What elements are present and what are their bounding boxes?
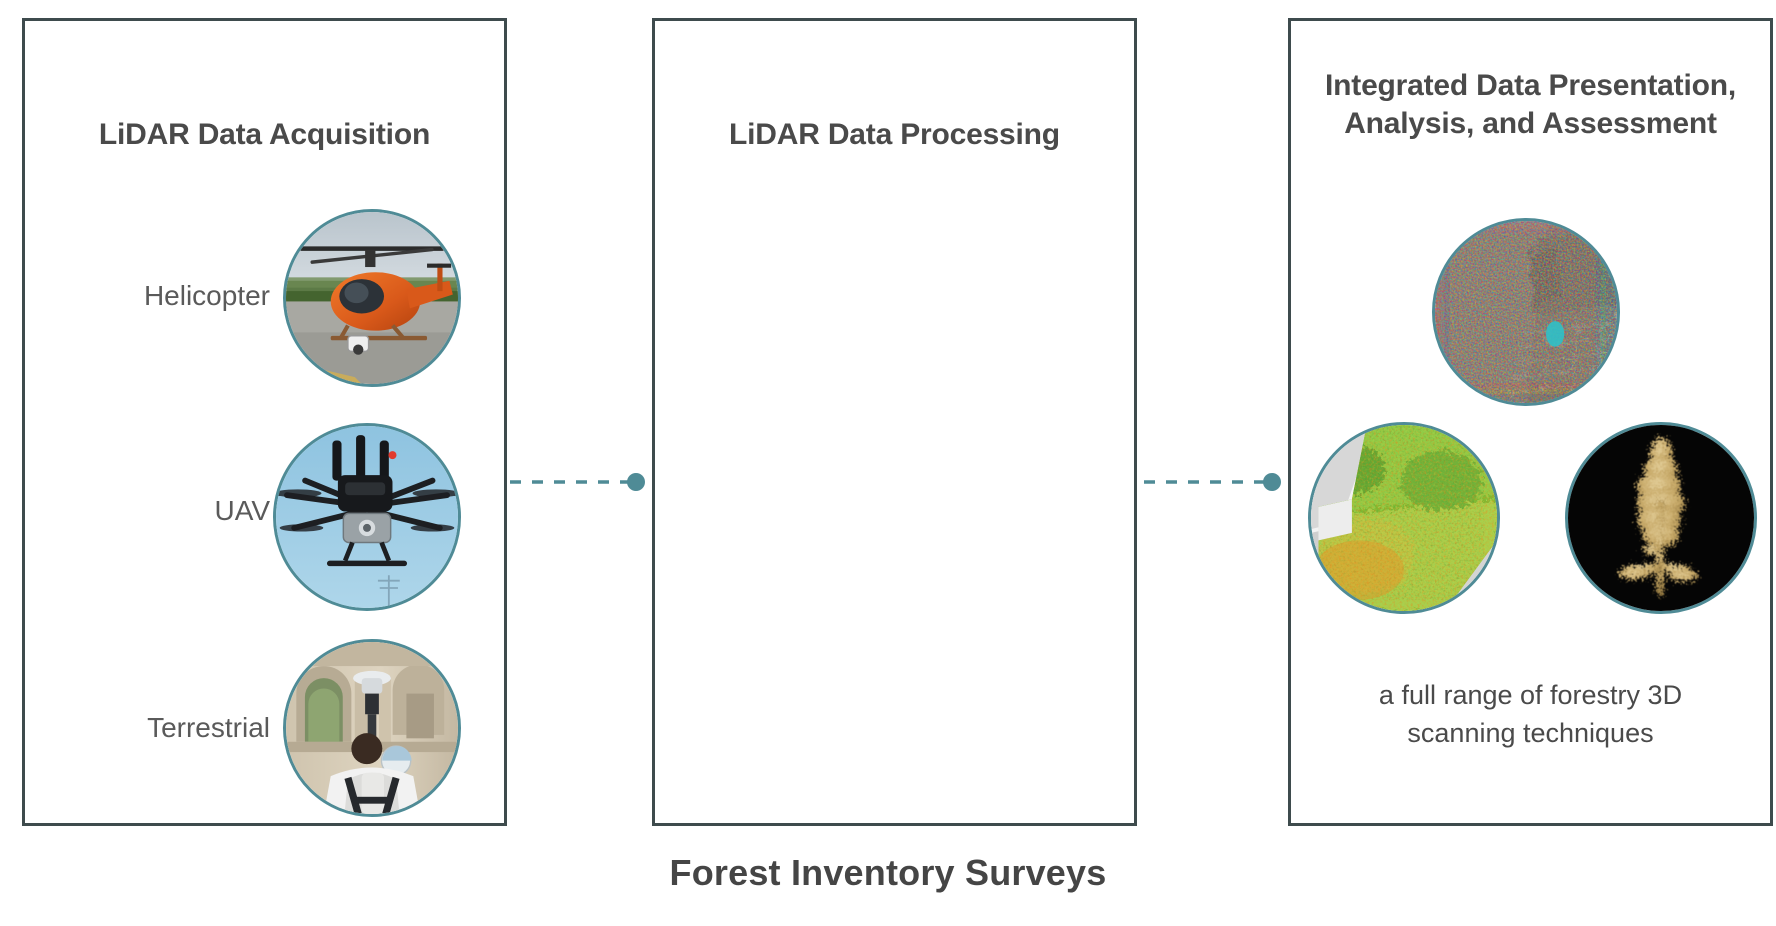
helicopter-photo-thumbnail	[283, 209, 461, 387]
single-tree-point-cloud-thumbnail	[1565, 422, 1757, 614]
panel-title-processing: LiDAR Data Processing	[655, 116, 1134, 154]
diagram-canvas: LiDAR Data Acquisition Helicopter	[0, 0, 1776, 926]
panel-title-integration: Integrated Data Presentation, Analysis, …	[1291, 67, 1770, 143]
connector-processing-to-integration	[1142, 468, 1290, 496]
panel-footnote-integration: a full range of forestry 3D scanning tec…	[1291, 676, 1770, 752]
panel-lidar-data-processing: LiDAR Data Processing	[652, 18, 1137, 826]
crown-detection-point-cloud-thumbnail	[1432, 218, 1620, 406]
uav-drone-photo-thumbnail	[273, 423, 461, 611]
panel-integrated-data-presentation: Integrated Data Presentation, Analysis, …	[1288, 18, 1773, 826]
diagram-caption: Forest Inventory Surveys	[0, 852, 1776, 894]
biomass-raster-map-thumbnail	[1308, 422, 1500, 614]
acquisition-label-helicopter: Helicopter	[65, 279, 270, 313]
panel-lidar-data-acquisition: LiDAR Data Acquisition Helicopter	[22, 18, 507, 826]
connector-acquisition-to-processing	[508, 468, 654, 496]
panel-title-acquisition: LiDAR Data Acquisition	[25, 116, 504, 154]
terrestrial-backpack-scanner-photo-thumbnail	[283, 639, 461, 817]
acquisition-label-uav: UAV	[65, 494, 270, 528]
acquisition-label-terrestrial: Terrestrial	[45, 711, 270, 745]
